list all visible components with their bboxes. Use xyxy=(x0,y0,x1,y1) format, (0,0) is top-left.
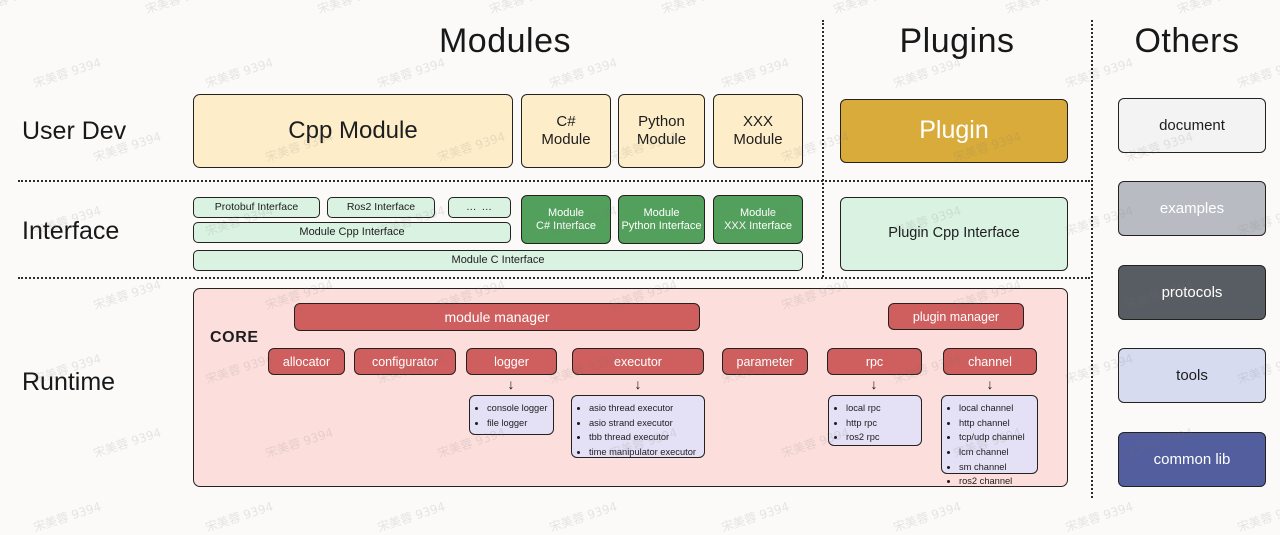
box-label: Ros2 Interface xyxy=(347,201,415,213)
box-label-line2: Module xyxy=(637,131,686,149)
box-more-interface[interactable]: … … xyxy=(448,197,511,218)
box-module-python-interface[interactable]: Module Python Interface xyxy=(618,195,705,244)
list-logger-implementations: console loggerfile logger xyxy=(469,395,554,435)
box-document[interactable]: document xyxy=(1118,98,1266,153)
column-title-modules: Modules xyxy=(190,22,820,61)
box-module-cpp-interface[interactable]: Module Cpp Interface xyxy=(193,222,511,243)
down-arrow-icon: ↓ xyxy=(504,377,518,391)
box-label: channel xyxy=(968,355,1012,369)
list-item: tcp/udp channel xyxy=(959,430,1031,445)
box-executor[interactable]: executor xyxy=(572,348,704,375)
box-xxx-module[interactable]: XXX Module xyxy=(713,94,803,168)
box-logger[interactable]: logger xyxy=(466,348,557,375)
box-protocols[interactable]: protocols xyxy=(1118,265,1266,320)
list-item: asio strand executor xyxy=(589,416,698,431)
list-item: asio thread executor xyxy=(589,401,698,416)
box-module-manager[interactable]: module manager xyxy=(294,303,700,331)
down-arrow-icon: ↓ xyxy=(867,377,881,391)
box-label: Module Cpp Interface xyxy=(299,226,404,239)
box-label: Plugin Cpp Interface xyxy=(888,225,1019,242)
architecture-diagram: Modules Plugins Others User Dev Interfac… xyxy=(0,0,1280,519)
column-title-plugins: Plugins xyxy=(826,22,1088,61)
list-executor-implementations: asio thread executorasio strand executor… xyxy=(571,395,705,458)
core-label: CORE xyxy=(210,329,259,347)
box-label-line1: C# xyxy=(541,113,590,131)
list-item: local channel xyxy=(959,401,1031,416)
box-module-xxx-interface[interactable]: Module XXX Interface xyxy=(713,195,803,244)
row-label-runtime: Runtime xyxy=(22,368,115,397)
box-label: plugin manager xyxy=(913,310,999,324)
box-label: allocator xyxy=(283,355,330,369)
row-label-interface: Interface xyxy=(22,217,119,246)
box-label-line1: Python xyxy=(637,113,686,131)
box-plugin-cpp-interface[interactable]: Plugin Cpp Interface xyxy=(840,197,1068,271)
box-label-line1: Module xyxy=(621,207,701,220)
box-label: parameter xyxy=(737,355,794,369)
down-arrow-icon: ↓ xyxy=(983,377,997,391)
box-plugin[interactable]: Plugin xyxy=(840,99,1068,163)
box-label: … … xyxy=(466,201,493,213)
box-label-line1: XXX xyxy=(733,113,782,131)
box-label-line2: C# Interface xyxy=(536,220,596,233)
list-channel-implementations: local channelhttp channeltcp/udp channel… xyxy=(941,395,1038,474)
box-label: Module C Interface xyxy=(452,254,545,267)
list-item: http rpc xyxy=(846,416,915,431)
divider-interface-runtime xyxy=(18,277,1090,279)
box-configurator[interactable]: configurator xyxy=(354,348,456,375)
list-item: tbb thread executor xyxy=(589,430,698,445)
box-common-lib[interactable]: common lib xyxy=(1118,432,1266,487)
list-item: sm channel xyxy=(959,460,1031,475)
box-cpp-module[interactable]: Cpp Module xyxy=(193,94,513,168)
box-label-line2: Module xyxy=(541,131,590,149)
list-item: ros2 channel xyxy=(959,474,1031,489)
divider-modules-plugins xyxy=(822,20,824,277)
list: console loggerfile logger xyxy=(474,401,547,430)
divider-plugins-others xyxy=(1091,20,1093,498)
box-label: protocols xyxy=(1162,284,1223,301)
box-label-line2: Module xyxy=(733,131,782,149)
box-allocator[interactable]: allocator xyxy=(268,348,345,375)
box-csharp-module[interactable]: C# Module xyxy=(521,94,611,168)
box-channel[interactable]: channel xyxy=(943,348,1037,375)
list-item: http channel xyxy=(959,416,1031,431)
box-label: logger xyxy=(494,355,529,369)
box-label: Protobuf Interface xyxy=(215,201,298,213)
box-module-csharp-interface[interactable]: Module C# Interface xyxy=(521,195,611,244)
list-item: time manipulator executor xyxy=(589,445,698,460)
box-python-module[interactable]: Python Module xyxy=(618,94,705,168)
list: asio thread executorasio strand executor… xyxy=(576,401,698,460)
column-title-others: Others xyxy=(1094,22,1280,61)
list: local rpchttp rpcros2 rpc xyxy=(833,401,915,445)
box-label: common lib xyxy=(1154,451,1231,468)
box-parameter[interactable]: parameter xyxy=(722,348,808,375)
down-arrow-icon: ↓ xyxy=(631,377,645,391)
box-rpc[interactable]: rpc xyxy=(827,348,922,375)
box-tools[interactable]: tools xyxy=(1118,348,1266,403)
list-item: lcm channel xyxy=(959,445,1031,460)
box-label: rpc xyxy=(866,355,883,369)
list-item: file logger xyxy=(487,416,547,431)
box-protobuf-interface[interactable]: Protobuf Interface xyxy=(193,197,320,218)
box-label: examples xyxy=(1160,200,1224,217)
row-label-user-dev: User Dev xyxy=(22,117,126,146)
list-item: console logger xyxy=(487,401,547,416)
box-label: configurator xyxy=(372,355,438,369)
box-examples[interactable]: examples xyxy=(1118,181,1266,236)
box-module-c-interface[interactable]: Module C Interface xyxy=(193,250,803,271)
list-rpc-implementations: local rpchttp rpcros2 rpc xyxy=(828,395,922,446)
list-item: ros2 rpc xyxy=(846,430,915,445)
divider-userdev-interface xyxy=(18,180,1090,182)
box-label: document xyxy=(1159,117,1225,134)
box-label: Plugin xyxy=(919,116,989,146)
list: local channelhttp channeltcp/udp channel… xyxy=(946,401,1031,489)
box-label: executor xyxy=(614,355,662,369)
box-label-line2: Python Interface xyxy=(621,220,701,233)
list-item: local rpc xyxy=(846,401,915,416)
box-label-line2: XXX Interface xyxy=(724,220,792,233)
box-label-line1: Module xyxy=(536,207,596,220)
box-label-line1: Module xyxy=(724,207,792,220)
box-plugin-manager[interactable]: plugin manager xyxy=(888,303,1024,330)
box-label: module manager xyxy=(444,309,549,325)
box-label: Cpp Module xyxy=(288,117,417,145)
box-ros2-interface[interactable]: Ros2 Interface xyxy=(327,197,435,218)
box-label: tools xyxy=(1176,367,1208,384)
